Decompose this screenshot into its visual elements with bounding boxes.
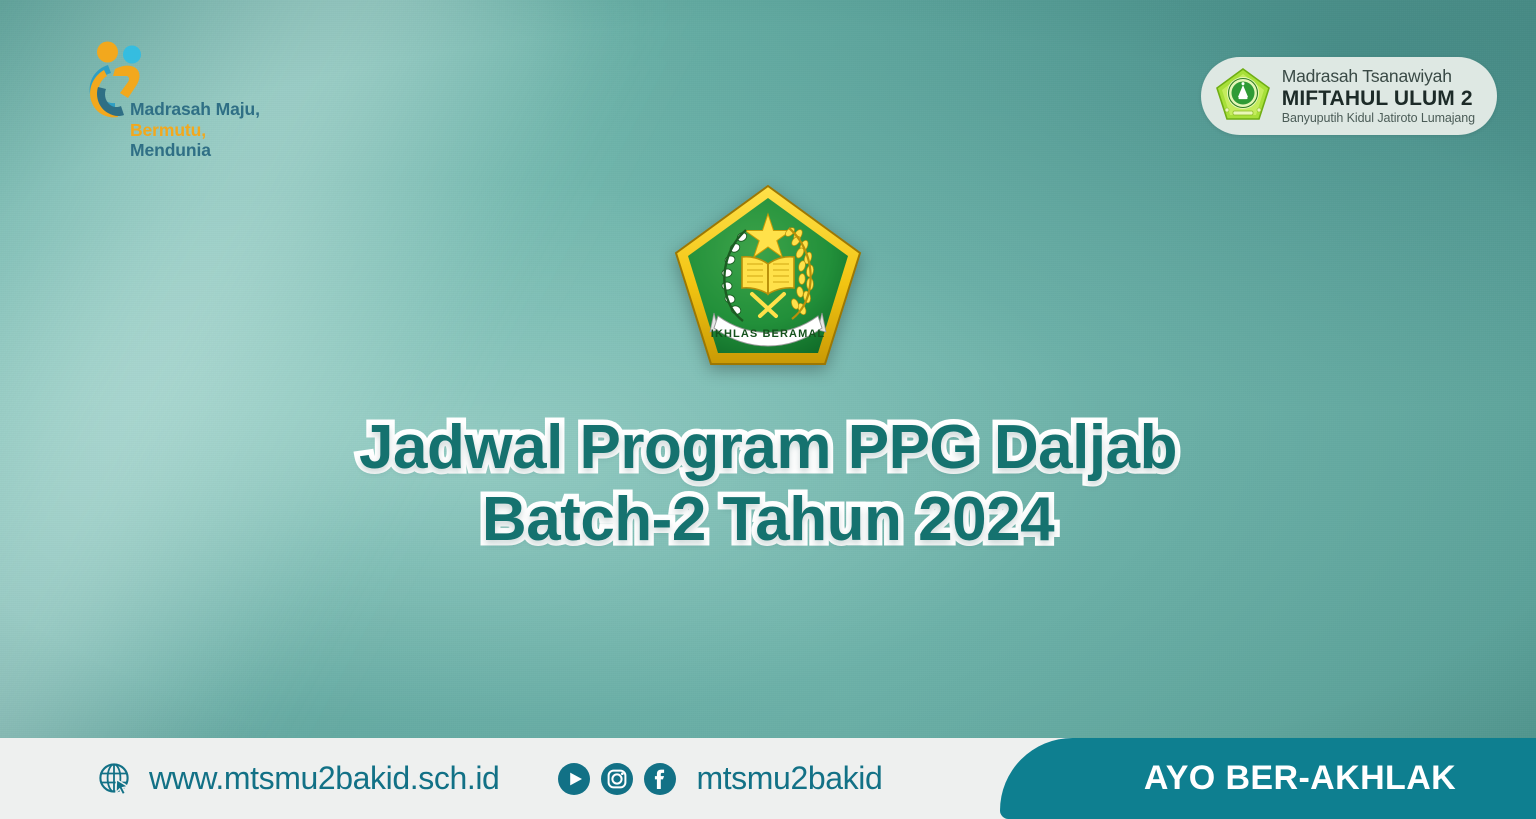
page-title-line2: Batch-2 Tahun 2024: [0, 484, 1536, 556]
globe-cursor-icon: [97, 761, 133, 797]
instagram-icon[interactable]: [600, 762, 634, 796]
social-group[interactable]: mtsmu2bakid: [557, 760, 882, 797]
website-url[interactable]: www.mtsmu2bakid.sch.id: [149, 760, 499, 797]
page-title: Jadwal Program PPG Daljab Batch-2 Tahun …: [0, 412, 1536, 556]
slide-canvas: Madrasah Maju, Bermutu, Mendunia Madrasa…: [0, 0, 1536, 819]
school-address: Banyuputih Kidul Jatiroto Lumajang: [1282, 111, 1475, 125]
kemenag-emblem-icon: IKHLAS BERAMAL: [672, 182, 864, 372]
miftahul-ulum-crest-icon: [1213, 66, 1273, 126]
school-badge-text: Madrasah Tsanawiyah MIFTAHUL ULUM 2 Bany…: [1282, 67, 1475, 125]
brand-tagline-line3: Mendunia: [130, 140, 260, 161]
page-title-line1: Jadwal Program PPG Daljab: [0, 412, 1536, 484]
school-name: MIFTAHUL ULUM 2: [1282, 87, 1475, 111]
school-badge: Madrasah Tsanawiyah MIFTAHUL ULUM 2 Bany…: [1201, 57, 1497, 135]
brand-tagline: Madrasah Maju, Bermutu, Mendunia: [130, 99, 260, 161]
brand-tagline-line2: Bermutu,: [130, 120, 260, 141]
website-group[interactable]: www.mtsmu2bakid.sch.id: [97, 760, 499, 797]
youtube-icon[interactable]: [557, 762, 591, 796]
social-handle[interactable]: mtsmu2bakid: [696, 760, 882, 797]
akhlak-banner: AYO BER-AKHLAK: [1000, 738, 1536, 819]
brand-tagline-line1: Madrasah Maju,: [130, 99, 260, 120]
school-level: Madrasah Tsanawiyah: [1282, 67, 1475, 87]
footer-bar: www.mtsmu2bakid.sch.id mtsmu2bakid AYO B…: [0, 738, 1536, 819]
akhlak-banner-text: AYO BER-AKHLAK: [1144, 759, 1456, 798]
facebook-icon[interactable]: [643, 762, 677, 796]
brand-logo: Madrasah Maju, Bermutu, Mendunia: [82, 40, 352, 160]
emblem-motto-text: IKHLAS BERAMAL: [711, 328, 825, 340]
